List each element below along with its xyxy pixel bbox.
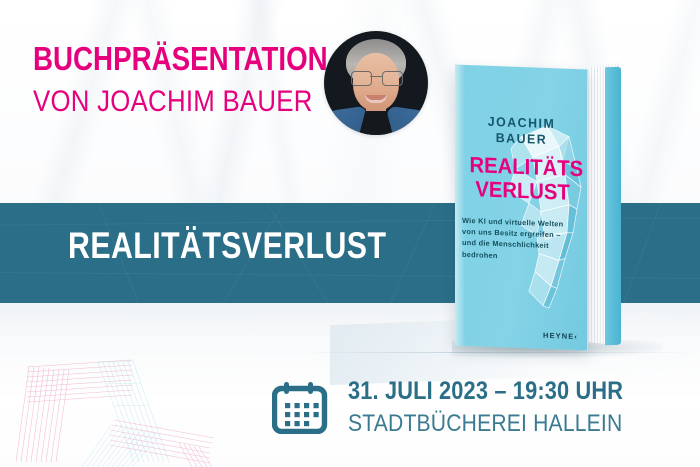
book-subtitle-line3: und die Menschlichkeit bedrohen xyxy=(462,237,581,264)
event-poster: BUCHPRÄSENTATION VON JOACHIM BAUER REALI… xyxy=(0,0,700,467)
publisher-logo: HEYNE‹ xyxy=(543,331,578,341)
decor-fan-line-art xyxy=(0,344,294,467)
book-front-cover: JOACHIM BAUER REALITÄTS VERLUST Wie KI u… xyxy=(455,65,588,351)
book-cover-mockup: JOACHIM BAUER REALITÄTS VERLUST Wie KI u… xyxy=(455,67,650,350)
book-title-line2: VERLUST xyxy=(460,177,582,204)
publisher-mark: ‹ xyxy=(574,332,578,341)
glasses-icon xyxy=(351,71,401,84)
page-subtitle: VON JOACHIM BAUER xyxy=(33,87,313,117)
book-spine-shading xyxy=(455,65,465,346)
event-venue: STADTBÜCHEREI HALLEIN xyxy=(348,412,622,436)
event-date: 31. JULI 2023 – 19:30 UHR xyxy=(348,379,623,404)
book-author-line2: BAUER xyxy=(458,129,584,150)
avatar xyxy=(324,31,428,135)
page-title: BUCHPRÄSENTATION xyxy=(33,42,328,75)
publisher-name: HEYNE xyxy=(543,331,574,341)
calendar-icon xyxy=(272,380,328,434)
event-title: REALITÄTSVERLUST xyxy=(68,227,386,264)
book-back-cover xyxy=(605,67,621,345)
